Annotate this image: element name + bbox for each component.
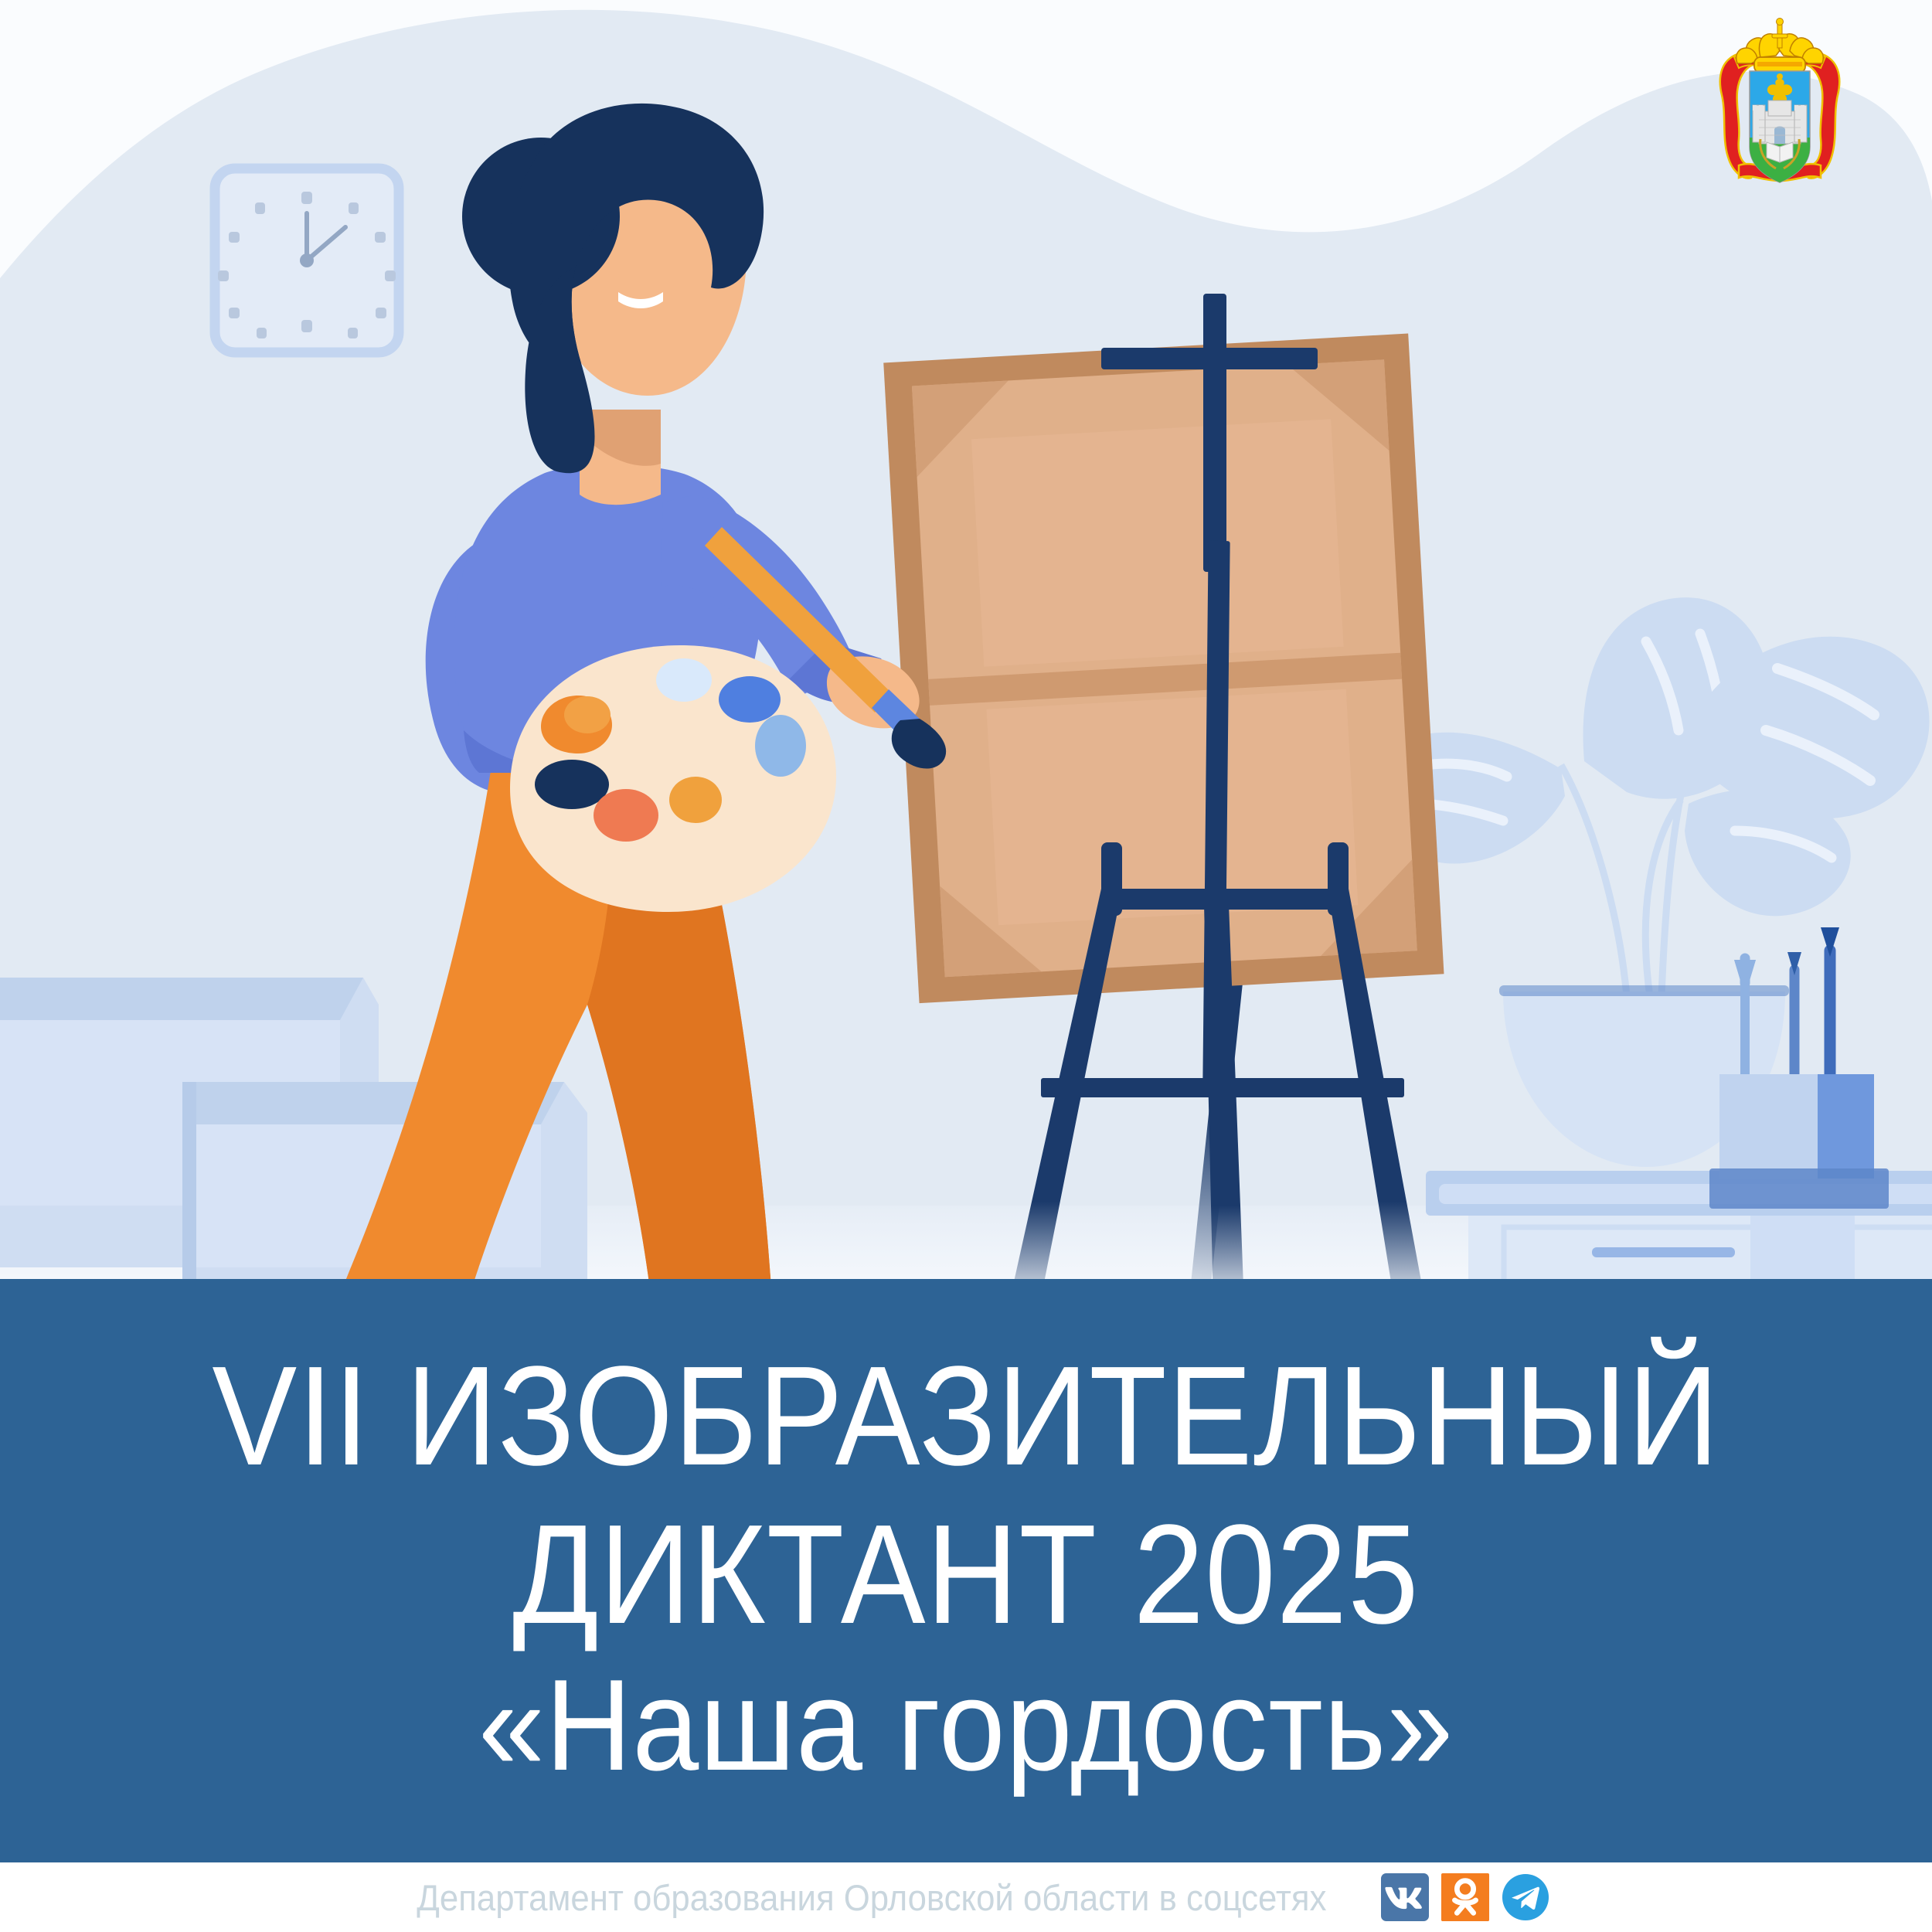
emblem-shield	[1750, 71, 1810, 182]
palette-blob-red	[594, 789, 658, 842]
palette-blob-skyblue	[755, 715, 806, 777]
title-line-1: VII ИЗОБРАЗИТЕЛЬНЫЙ	[213, 1345, 1720, 1486]
footer-bar: Департамент образования Орловской област…	[0, 1862, 1932, 1932]
telegram-icon[interactable]	[1502, 1873, 1549, 1921]
poster-root: VII ИЗОБРАЗИТЕЛЬНЫЙ ДИКТАНТ 2025 «Наша г…	[0, 0, 1932, 1932]
illustration-scene	[0, 0, 1932, 1314]
emblem-fortress	[1753, 100, 1807, 144]
palette-blob-orange1	[564, 696, 611, 733]
vk-icon[interactable]	[1381, 1873, 1429, 1921]
title-line-3: «Наша гордость»	[478, 1660, 1454, 1790]
title-line-2: ДИКТАНТ 2025	[512, 1503, 1419, 1645]
odnoklassniki-icon[interactable]	[1441, 1873, 1489, 1921]
palette-blob-lightblue	[656, 658, 712, 702]
palette-blob-orange2	[669, 777, 722, 823]
coat-of-arms-oryol-oblast	[1706, 14, 1853, 207]
title-banner: VII ИЗОБРАЗИТЕЛЬНЫЙ ДИКТАНТ 2025 «Наша г…	[0, 1279, 1932, 1862]
footer-label: Департамент образования Орловской област…	[417, 1876, 1326, 1919]
wall-clock	[215, 168, 399, 352]
paint-palette	[510, 645, 836, 912]
social-links	[1381, 1873, 1549, 1921]
palette-blob-blue	[719, 676, 781, 723]
palette-blob-navy	[535, 760, 609, 809]
clock-center-pin	[300, 253, 314, 267]
